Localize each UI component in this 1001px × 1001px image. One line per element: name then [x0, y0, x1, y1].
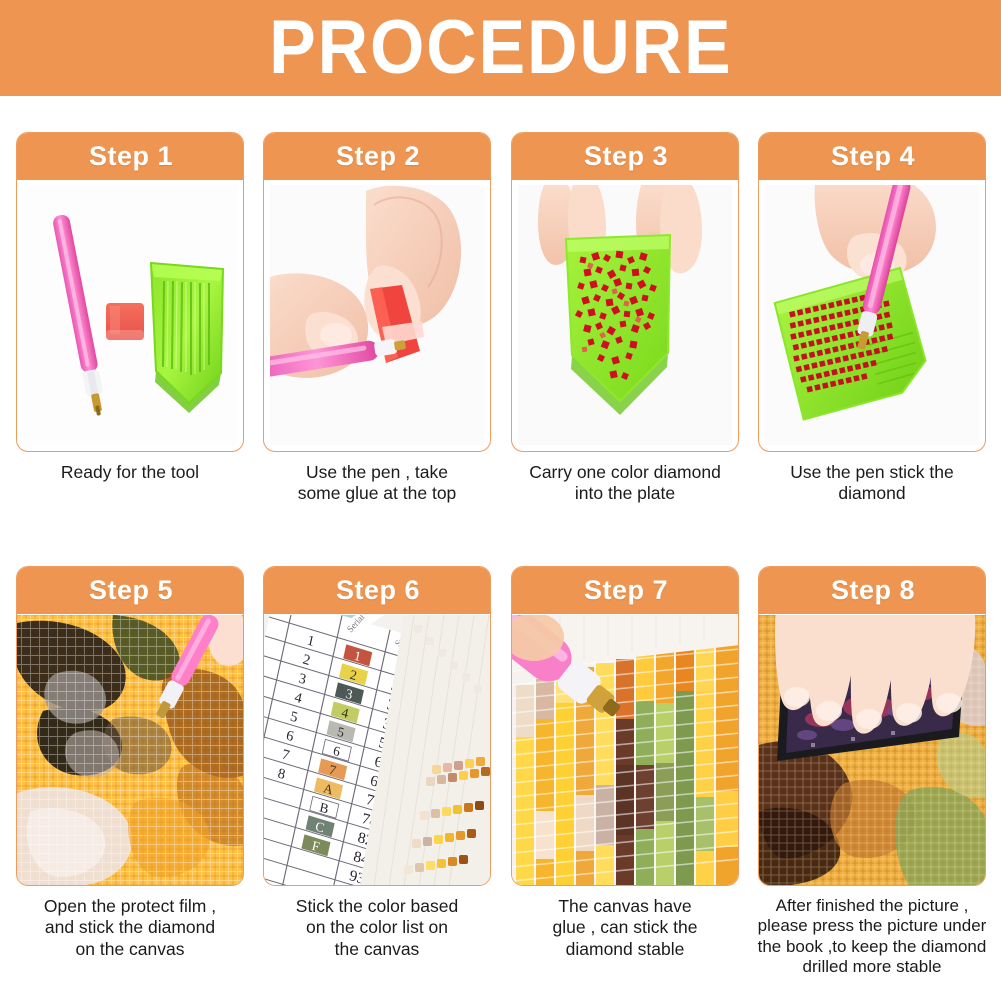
page-title: PROCEDURE	[269, 10, 732, 86]
step-card-5-header-label: Step 5	[89, 575, 173, 606]
step-card-1-photo	[23, 185, 237, 445]
step-card-3-frame: Step 3	[511, 132, 739, 452]
step-card-5-photo	[17, 615, 244, 886]
step-card-4: Step 4	[758, 132, 986, 572]
color-list-chart-illustration: Serial Symbol DMC	[264, 615, 491, 886]
steps-grid: Step 1	[0, 96, 1001, 1001]
step-card-2-header-label: Step 2	[336, 141, 420, 172]
pen-wax-tray-illustration	[23, 185, 237, 445]
pressing-book-on-canvas-illustration	[759, 615, 986, 886]
step-card-7: Step 7	[511, 566, 739, 1001]
sunflower-mosaic-with-pen-illustration	[17, 615, 244, 886]
step-card-1-header-label: Step 1	[89, 141, 173, 172]
step-card-5-caption: Open the protect film , and stick the di…	[2, 896, 258, 960]
step-card-5-frame: Step 5	[16, 566, 244, 886]
step-card-8: Step 8	[758, 566, 986, 1001]
tray-with-red-diamonds-illustration	[518, 185, 732, 445]
step-card-3-header: Step 3	[511, 132, 739, 180]
step-card-2-header: Step 2	[263, 132, 491, 180]
step-card-2-frame: Step 2	[263, 132, 491, 452]
step-card-7-photo	[512, 615, 739, 886]
page-header-banner: PROCEDURE	[0, 0, 1001, 96]
step-card-3: Step 3	[511, 132, 739, 572]
step-card-6: Step 6	[263, 566, 491, 1001]
step-card-3-header-label: Step 3	[584, 141, 668, 172]
step-card-6-caption: Stick the color based on the color list …	[249, 896, 505, 960]
step-card-7-header-label: Step 7	[584, 575, 668, 606]
step-card-8-photo	[759, 615, 986, 886]
step-card-5: Step 5	[16, 566, 244, 1001]
step-card-7-caption: The canvas have glue , can stick the dia…	[497, 896, 753, 960]
step-card-8-caption: After finished the picture , please pres…	[730, 896, 1001, 978]
step-card-1-header: Step 1	[16, 132, 244, 180]
step-card-7-frame: Step 7	[511, 566, 739, 886]
step-card-2: Step 2	[263, 132, 491, 572]
step-card-1-frame: Step 1	[16, 132, 244, 452]
step-card-6-photo: Serial Symbol DMC	[264, 615, 491, 886]
procedure-infographic: PROCEDURE Step 1	[0, 0, 1001, 1001]
step-card-8-frame: Step 8	[758, 566, 986, 886]
step-card-2-caption: Use the pen , take some glue at the top	[249, 462, 505, 505]
step-card-7-header: Step 7	[511, 566, 739, 614]
step-card-1-caption: Ready for the tool	[2, 462, 258, 483]
step-card-6-header-label: Step 6	[336, 575, 420, 606]
step-card-4-frame: Step 4	[758, 132, 986, 452]
hands-dipping-pen-illustration	[270, 185, 484, 445]
step-card-1: Step 1	[16, 132, 244, 572]
step-card-4-caption: Use the pen stick the diamond	[744, 462, 1000, 505]
step-card-6-header: Step 6	[263, 566, 491, 614]
step-card-4-photo	[765, 185, 979, 445]
pen-picking-diamonds-illustration	[765, 185, 979, 445]
step-card-4-header: Step 4	[758, 132, 986, 180]
closeup-diamond-rows-illustration	[512, 615, 739, 886]
steps-row-bottom: Step 5	[0, 566, 1001, 1001]
step-card-8-header: Step 8	[758, 566, 986, 614]
step-card-5-header: Step 5	[16, 566, 244, 614]
steps-row-top: Step 1	[0, 132, 1001, 572]
step-card-3-photo	[518, 185, 732, 445]
step-card-8-header-label: Step 8	[831, 575, 915, 606]
step-card-4-header-label: Step 4	[831, 141, 915, 172]
step-card-3-caption: Carry one color diamond into the plate	[497, 462, 753, 505]
step-card-2-photo	[270, 185, 484, 445]
step-card-6-frame: Step 6	[263, 566, 491, 886]
